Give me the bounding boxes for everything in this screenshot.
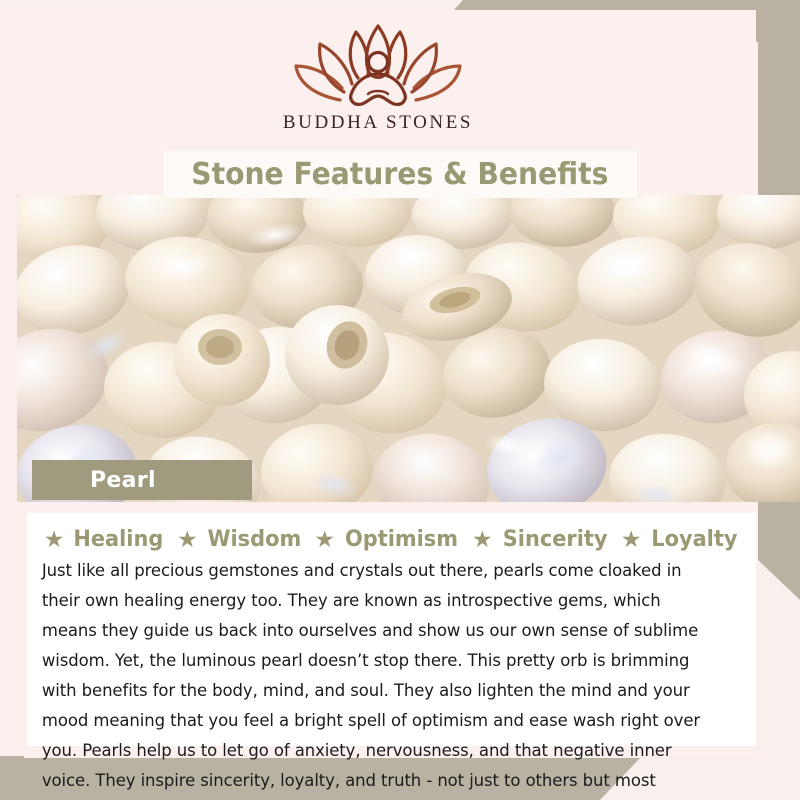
pearls-photo	[17, 195, 800, 502]
body-paragraph: Just like all precious gemstones and cry…	[39, 556, 719, 800]
keyword-label: Wisdom	[207, 527, 301, 552]
poster-page: BUDDHA STONES	[0, 10, 756, 756]
keywords-row: ★Healing★Wisdom★Optimism★Sincerity★Loyal…	[39, 527, 744, 552]
keyword-item: ★Healing	[44, 527, 166, 552]
star-icon: ★	[44, 528, 65, 551]
keyword-item: ★Optimism	[314, 527, 461, 552]
star-icon: ★	[621, 528, 642, 551]
title-banner: Stone Features & Benefits	[163, 151, 637, 198]
keyword-label: Sincerity	[502, 527, 607, 552]
star-icon: ★	[314, 528, 335, 551]
keyword-item: ★Loyalty	[621, 527, 739, 552]
poster-header: BUDDHA STONES	[0, 10, 756, 150]
stone-name-bar: Pearl	[32, 460, 252, 500]
star-icon: ★	[177, 528, 198, 551]
keyword-label: Optimism	[345, 527, 458, 552]
star-icon: ★	[472, 528, 493, 551]
keyword-item: ★Wisdom	[177, 527, 303, 552]
brand-logo-block: BUDDHA STONES	[0, 22, 756, 134]
keyword-label: Loyalty	[651, 527, 737, 552]
keyword-label: Healing	[74, 527, 164, 552]
keyword-item: ★Sincerity	[472, 527, 610, 552]
lotus-meditation-icon	[288, 22, 468, 110]
page-title: Stone Features & Benefits	[191, 157, 608, 192]
stone-name: Pearl	[90, 468, 156, 493]
brand-name: BUDDHA STONES	[0, 112, 756, 134]
stone-benefits-poster: BUDDHA STONES	[0, 0, 800, 800]
content-card: ★Healing★Wisdom★Optimism★Sincerity★Loyal…	[27, 513, 756, 746]
